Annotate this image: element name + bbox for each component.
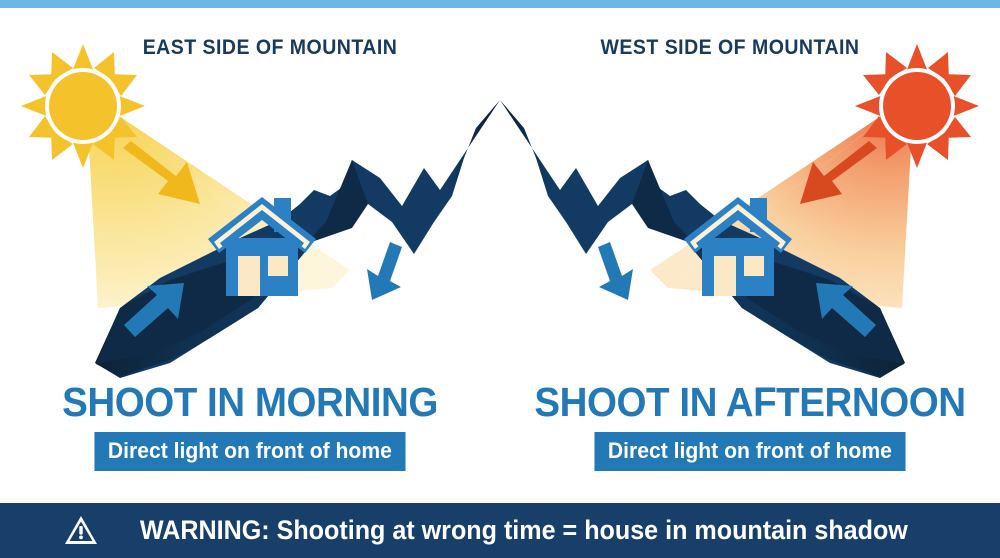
infographic-root: EAST SIDE OF MOUNTAIN WEST SIDE OF MOUNT…	[0, 0, 1000, 558]
heading-east-side: EAST SIDE OF MOUNTAIN	[19, 36, 521, 60]
warning-triangle-icon	[64, 515, 98, 546]
scene-illustration	[0, 8, 1000, 378]
caption-badge-morning: Direct light on front of home	[95, 432, 406, 471]
caption-block-left: SHOOT IN MORNING Direct light on front o…	[0, 378, 500, 471]
top-accent-strip	[0, 0, 1000, 8]
caption-badge-afternoon: Direct light on front of home	[595, 432, 906, 471]
caption-badge-wrap-left: Direct light on front of home	[0, 432, 500, 471]
caption-badge-wrap-right: Direct light on front of home	[500, 432, 1000, 471]
heading-west-side: WEST SIDE OF MOUNTAIN	[479, 36, 981, 60]
warning-bar: WARNING: Shooting at wrong time = house …	[0, 503, 1000, 558]
downhill-shadow-arrow-icon	[367, 242, 402, 300]
caption-title-afternoon: SHOOT IN AFTERNOON	[515, 378, 985, 426]
caption-block-right: SHOOT IN AFTERNOON Direct light on front…	[500, 378, 1000, 471]
downhill-shadow-arrow-icon	[598, 242, 633, 300]
warning-message: WARNING: Shooting at wrong time = house …	[140, 515, 908, 546]
caption-title-morning: SHOOT IN MORNING	[15, 378, 485, 426]
